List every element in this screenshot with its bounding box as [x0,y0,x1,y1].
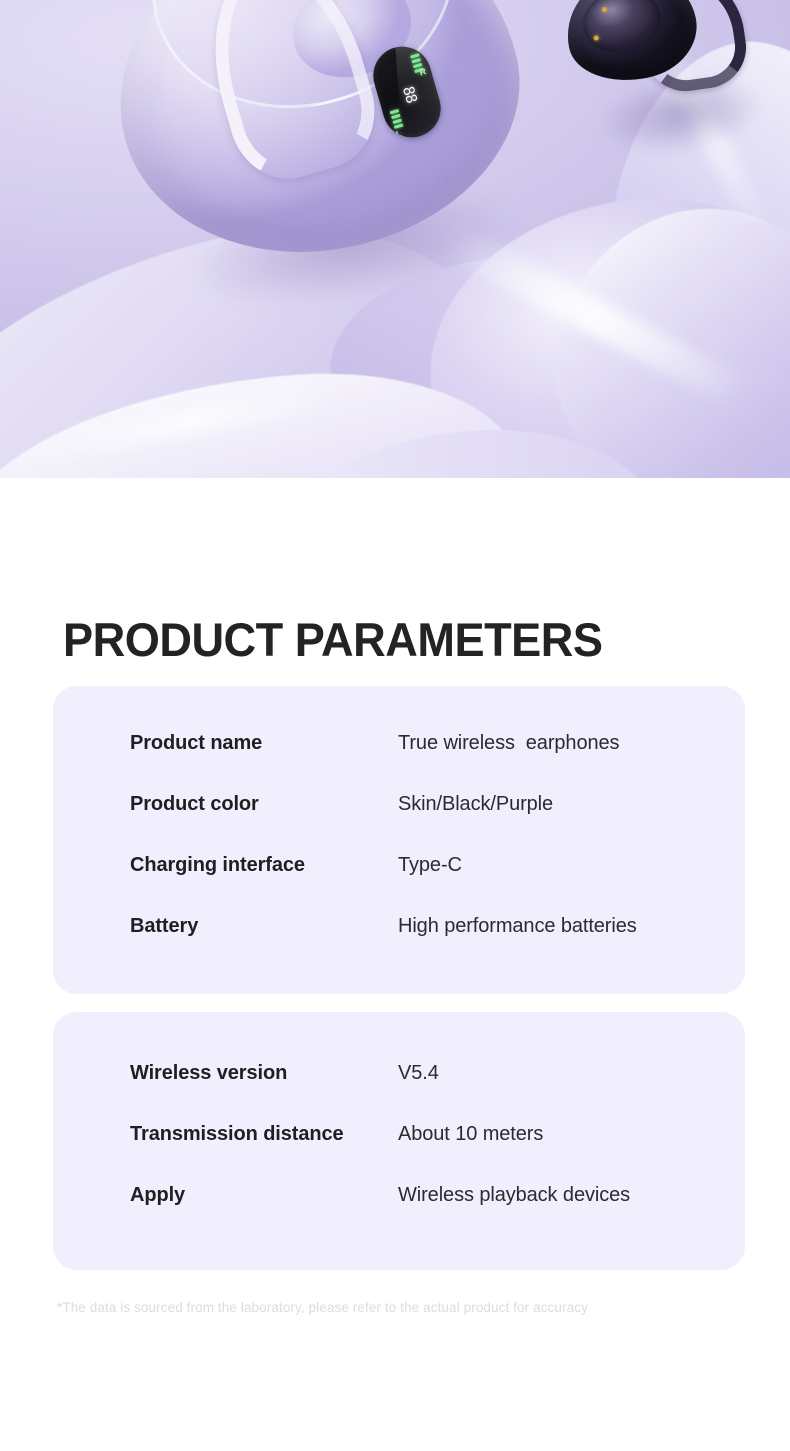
param-label: Charging interface [130,854,398,877]
param-value: Type-C [398,854,462,877]
hero-product-image: L R 88 [0,0,790,478]
param-value: True wireless earphones [398,732,619,755]
parameters-card-2: Wireless version V5.4 Transmission dista… [53,1012,745,1270]
param-label: Product name [130,732,398,755]
param-value: About 10 meters [398,1123,543,1146]
param-label: Product color [130,793,398,816]
table-row: Apply Wireless playback devices [53,1184,745,1245]
table-row: Battery High performance batteries [53,915,745,976]
disclaimer-footnote: *The data is sourced from the laboratory… [57,1300,588,1315]
param-label: Battery [130,915,398,938]
param-value: Skin/Black/Purple [398,793,553,816]
table-row: Charging interface Type-C [53,854,745,915]
table-row: Wireless version V5.4 [53,1062,745,1123]
param-value: High performance batteries [398,915,637,938]
earbud-driver [577,0,666,59]
table-row: Product name True wireless earphones [53,732,745,793]
parameters-card-1: Product name True wireless earphones Pro… [53,686,745,994]
table-row: Product color Skin/Black/Purple [53,793,745,854]
param-label: Wireless version [130,1062,398,1085]
param-label: Apply [130,1184,398,1207]
param-value: V5.4 [398,1062,439,1085]
param-value: Wireless playback devices [398,1184,630,1207]
param-label: Transmission distance [130,1123,398,1146]
table-row: Transmission distance About 10 meters [53,1123,745,1184]
page-title: PRODUCT PARAMETERS [63,616,603,663]
